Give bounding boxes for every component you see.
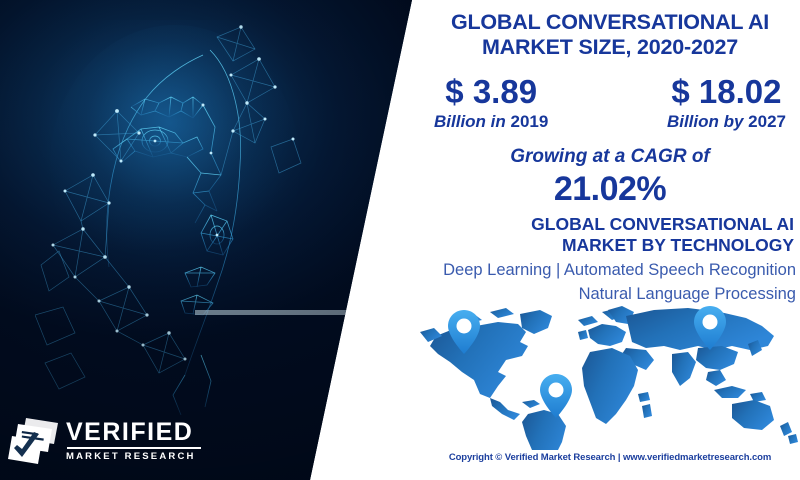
logo-word-verified: VERIFIED: [66, 418, 206, 446]
figure-base-caption: Billion in 2019: [434, 111, 548, 133]
infographic-canvas: VERIFIED MARKET RESEARCH GLOBAL CONVERSA…: [0, 0, 800, 480]
figure-base-amount: $ 3.89: [434, 74, 548, 110]
verified-market-research-logo[interactable]: VERIFIED MARKET RESEARCH: [8, 412, 208, 470]
technology-list: Deep Learning | Automated Speech Recogni…: [420, 258, 800, 306]
content-column: GLOBAL CONVERSATIONAL AI MARKET SIZE, 20…: [420, 0, 800, 480]
cagr-label: Growing at a CAGR of: [420, 146, 800, 168]
figure-base-year: $ 3.89 Billion in 2019: [434, 74, 548, 133]
audio-waveform-graphic: [195, 230, 395, 400]
figure-forecast-caption-lead: Billion by: [667, 112, 744, 131]
section-subtitle-line1: GLOBAL CONVERSATIONAL AI: [531, 214, 794, 234]
figure-forecast-caption: Billion by 2027: [667, 111, 786, 133]
page-title-line2: MARKET SIZE, 2020-2027: [420, 35, 800, 60]
world-map: [402, 302, 800, 450]
hero-artwork-panel: [0, 0, 430, 480]
section-subtitle: GLOBAL CONVERSATIONAL AI MARKET BY TECHN…: [420, 214, 800, 256]
figure-forecast-caption-year: 2027: [748, 112, 786, 131]
cagr-value: 21.02%: [420, 170, 800, 209]
page-title-line1: GLOBAL CONVERSATIONAL AI: [451, 10, 769, 34]
panel-glow: [40, 20, 300, 250]
logo-divider: [67, 447, 201, 449]
copyright-notice: Copyright © Verified Market Research | w…: [420, 452, 800, 463]
panel-vignette: [0, 0, 430, 480]
figure-base-caption-lead: Billion in: [434, 112, 506, 131]
market-size-figures: $ 3.89 Billion in 2019 $ 18.02 Billion b…: [420, 74, 800, 133]
technology-list-line1: Deep Learning | Automated Speech Recogni…: [443, 261, 796, 279]
logo-wordmark: VERIFIED MARKET RESEARCH: [66, 418, 206, 462]
figure-forecast-amount: $ 18.02: [667, 74, 786, 110]
document-check-icon: [8, 414, 62, 468]
figure-base-caption-year: 2019: [511, 112, 549, 131]
figure-forecast-year: $ 18.02 Billion by 2027: [667, 74, 786, 133]
page-title: GLOBAL CONVERSATIONAL AI MARKET SIZE, 20…: [420, 10, 800, 60]
world-map-graphic: [402, 302, 800, 450]
wireframe-face-illustration: [35, 15, 335, 415]
logo-subtitle: MARKET RESEARCH: [66, 451, 206, 462]
section-subtitle-line2: MARKET BY TECHNOLOGY: [420, 235, 794, 256]
